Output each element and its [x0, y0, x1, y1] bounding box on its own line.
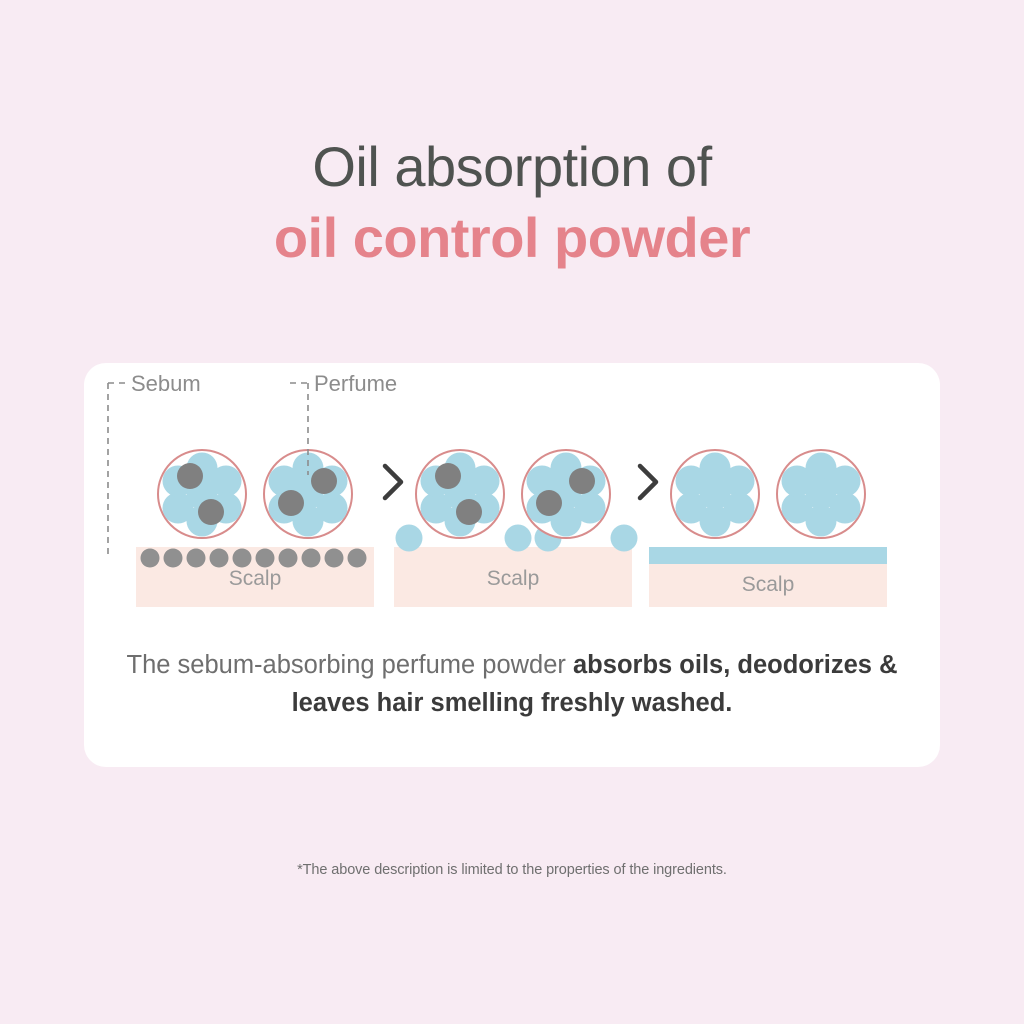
stage-2-scalp-label: Scalp: [487, 567, 540, 590]
chevron-right-icon: [385, 466, 401, 498]
footnote: *The above description is limited to the…: [0, 862, 1024, 878]
body-description: The sebum-absorbing perfume powder absor…: [114, 646, 910, 722]
stage-2-circle-1: [416, 450, 504, 538]
stage-1-group: Scalp: [108, 371, 397, 607]
diagram-svg: Scalp: [84, 363, 940, 623]
stage-3-scalp-label: Scalp: [742, 573, 795, 596]
stage-arrow-2: [640, 466, 656, 498]
stage-3-perfume-band: [649, 547, 887, 564]
stage-2-circle-2: [522, 450, 610, 538]
stage-3-circle-2: [777, 450, 865, 538]
chevron-right-icon: [640, 466, 656, 498]
title-line-1: Oil absorption of: [0, 132, 1024, 202]
stage-arrow-1: [385, 466, 401, 498]
title-line-2: oil control powder: [0, 202, 1024, 274]
stage-1-scalp-label: Scalp: [229, 567, 282, 590]
sebum-label: Sebum: [131, 371, 201, 396]
stage-1-circle-1: [158, 450, 246, 538]
oil-absorption-diagram: Scalp: [84, 363, 940, 623]
stage-3-group: Scalp: [649, 450, 887, 607]
stage-2-group: Scalp: [394, 450, 638, 607]
info-card: Scalp: [84, 363, 940, 767]
perfume-label: Perfume: [314, 371, 397, 396]
stage-3-circle-1: [671, 450, 759, 538]
body-light-text: The sebum-absorbing perfume powder: [127, 651, 574, 679]
page-title: Oil absorption of oil control powder: [0, 132, 1024, 274]
